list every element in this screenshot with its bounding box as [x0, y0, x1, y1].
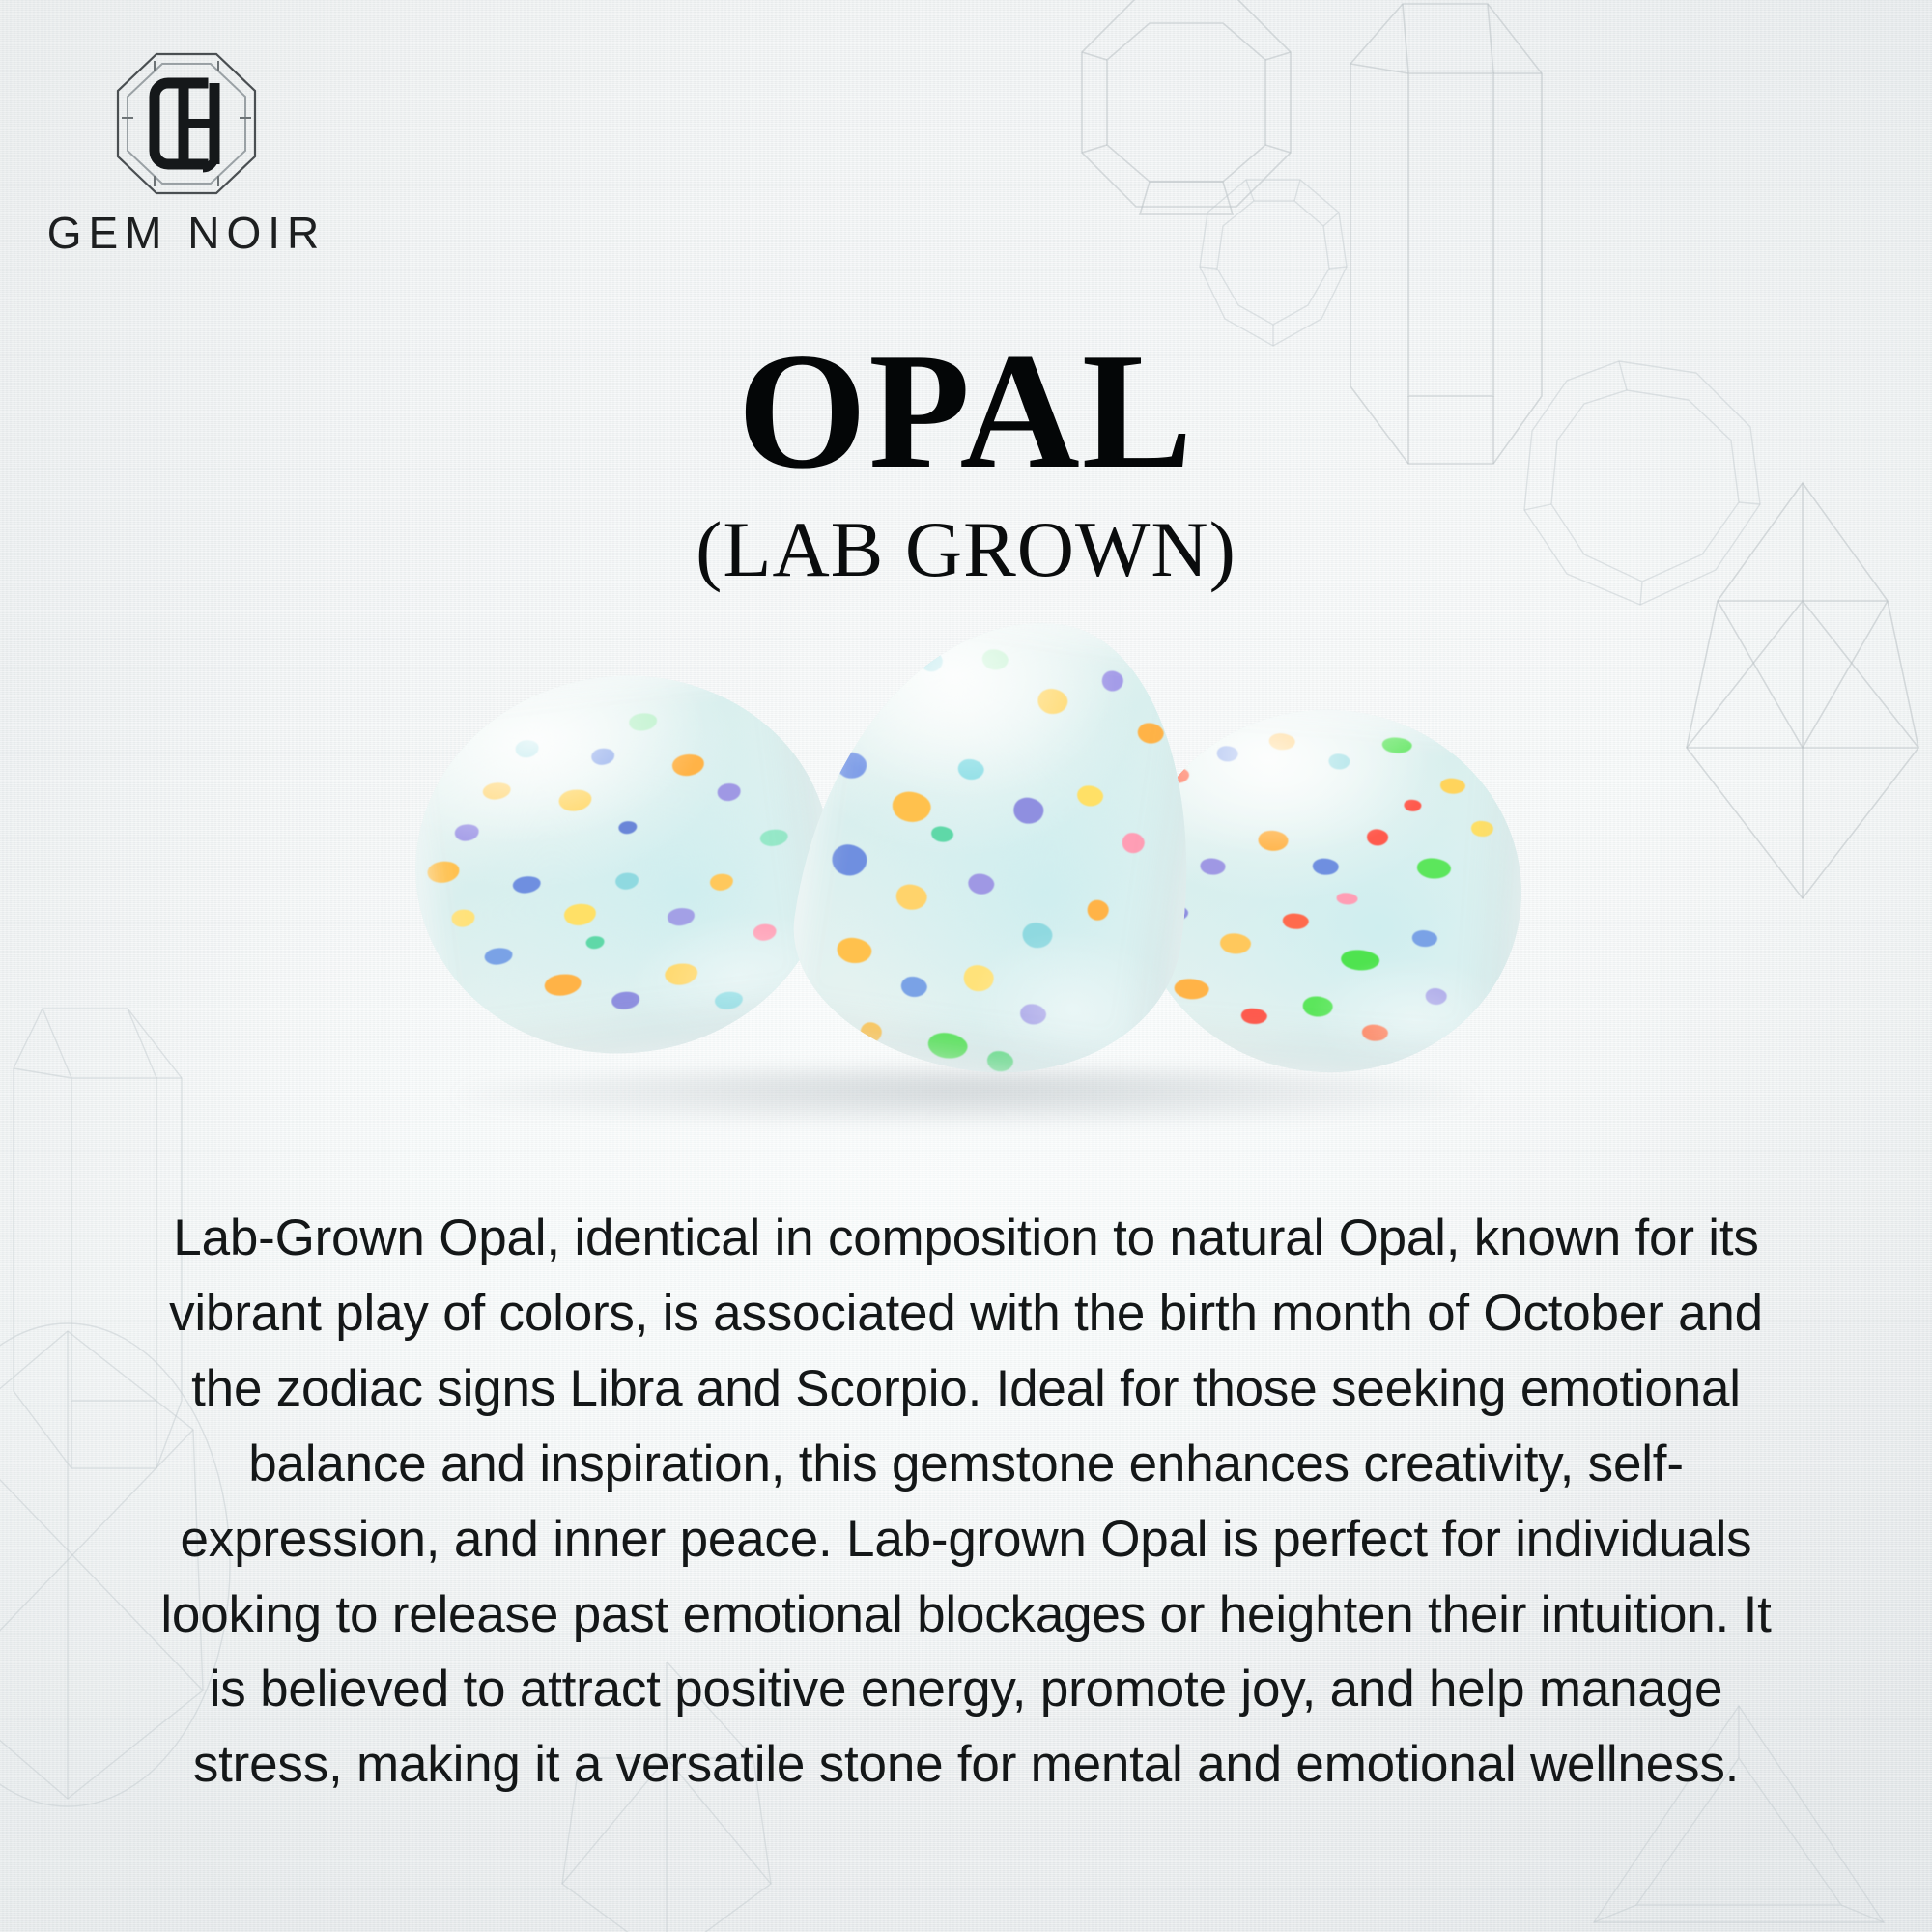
- page-subtitle: (LAB GROWN): [0, 510, 1932, 589]
- gemstone-cluster: [0, 618, 1932, 1121]
- brand-lockup[interactable]: GEM NOIR: [27, 50, 346, 259]
- page-title: OPAL: [0, 328, 1932, 495]
- headline-block: OPAL (LAB GROWN): [0, 328, 1932, 589]
- description-paragraph: Lab-Grown Opal, identical in composition…: [145, 1201, 1787, 1803]
- poster-canvas: GEM NOIR OPAL (LAB GROWN): [0, 0, 1932, 1932]
- brand-name: GEM NOIR: [27, 207, 346, 259]
- opal-edge-center: [777, 593, 1223, 1096]
- opal-stone-center: [777, 593, 1223, 1096]
- gem-outline-octagon-topleft: [1061, 0, 1312, 280]
- gem-noir-monogram-icon: [114, 50, 259, 197]
